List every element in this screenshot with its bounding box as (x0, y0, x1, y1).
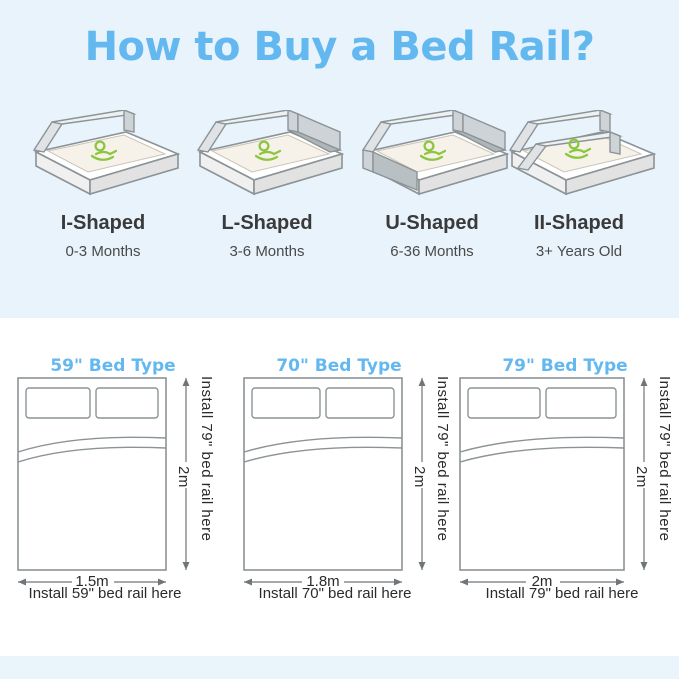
bed-type-caption: Install 70" bed rail here (226, 585, 444, 602)
bed-type-caption: Install 59" bed rail here (0, 585, 210, 602)
bed-rail-l-shape-icon (182, 110, 352, 200)
rail-type-name: I-Shaped (18, 212, 188, 235)
rail-type-age: 0-3 Months (18, 243, 188, 260)
page-title: How to Buy a Bed Rail? (0, 24, 679, 70)
rail-type-name: L-Shaped (182, 212, 352, 235)
bed-side-note: Install 79" bed rail here (656, 376, 673, 576)
bed-rail-ii-shape-icon (494, 110, 664, 200)
rail-type-name: U-Shaped (347, 212, 517, 235)
bed-rail-u-shape-icon (347, 110, 517, 200)
rail-type-card-l-shaped[interactable]: L-Shaped 3-6 Months (182, 110, 352, 260)
rail-type-age: 3+ Years Old (494, 243, 664, 260)
bed-length-label: 2m (633, 466, 650, 488)
bed-type-card-59[interactable]: 59" Bed Type (0, 318, 226, 656)
bed-side-note: Install 79" bed rail here (198, 376, 215, 576)
rail-type-card-ii-shaped[interactable]: II-Shaped 3+ Years Old (494, 110, 664, 260)
rail-type-card-i-shaped[interactable]: I-Shaped 0-3 Months (18, 110, 188, 260)
bottom-strip (0, 656, 679, 679)
rail-type-name: II-Shaped (494, 212, 664, 235)
bed-types-panel: 59" Bed Type (0, 318, 679, 656)
bed-type-card-70[interactable]: 70" Bed Type 1.8m 2m Install 79" bed rai… (226, 318, 452, 656)
rail-type-age: 6-36 Months (347, 243, 517, 260)
rail-type-card-u-shaped[interactable]: U-Shaped 6-36 Months (347, 110, 517, 260)
rail-type-age: 3-6 Months (182, 243, 352, 260)
bed-side-note: Install 79" bed rail here (434, 376, 451, 576)
bed-rail-i-shape-icon (18, 110, 188, 200)
bed-length-label: 2m (175, 466, 192, 488)
bed-length-label: 2m (411, 466, 428, 488)
rail-types-panel: How to Buy a Bed Rail? (0, 0, 679, 318)
bed-type-caption: Install 79" bed rail here (452, 585, 672, 602)
bed-type-card-79[interactable]: 79" Bed Type 2m 2m Install 79" bed rail … (452, 318, 678, 656)
